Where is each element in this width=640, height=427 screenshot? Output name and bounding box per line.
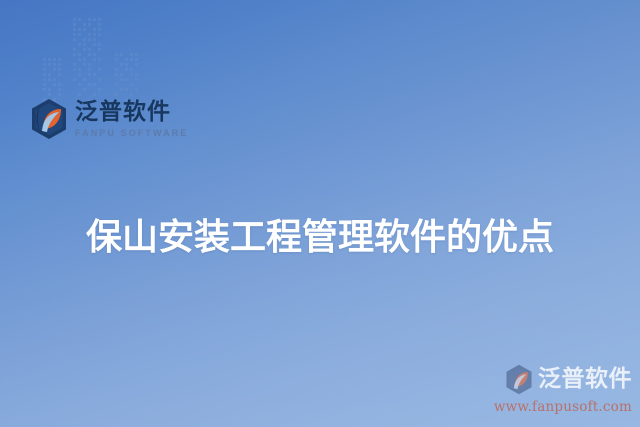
banner-canvas: 泛普软件 FANPU SOFTWARE 保山安装工程管理软件的优点 泛普软件 w…: [0, 0, 640, 427]
watermark-brand-name: 泛普软件: [538, 368, 632, 391]
brand-name-en: FANPU SOFTWARE: [75, 129, 188, 138]
fanpu-hexagon-logo-icon: [505, 364, 533, 395]
watermark-logo-row: 泛普软件: [492, 364, 632, 395]
brand-logo: 泛普软件 FANPU SOFTWARE: [30, 98, 188, 140]
fanpu-hexagon-logo-icon: [30, 98, 68, 140]
page-title: 保山安装工程管理软件的优点: [0, 217, 640, 258]
pixel-skyline-decoration: [42, 12, 150, 106]
watermark: 泛普软件 www.fanpusoft.com: [492, 364, 632, 415]
watermark-url: www.fanpusoft.com: [492, 399, 632, 415]
brand-name-cn: 泛普软件: [75, 101, 188, 124]
brand-text-block: 泛普软件 FANPU SOFTWARE: [75, 101, 188, 138]
